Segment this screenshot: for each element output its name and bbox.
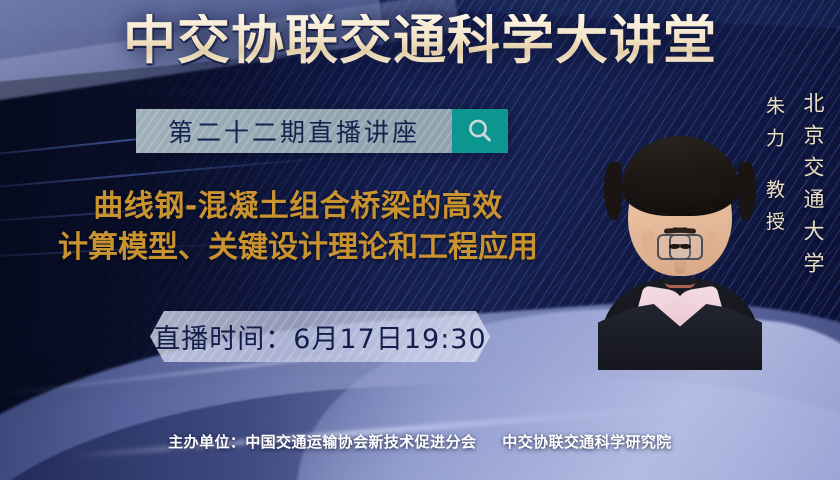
speaker-eye-left bbox=[669, 244, 680, 249]
lecture-poster: 中交协联交通科学大讲堂 第二十二期直播讲座 曲线钢-混凝土组合桥梁的高效 计算模… bbox=[0, 0, 840, 480]
speaker-hair bbox=[622, 136, 738, 216]
speaker-nose bbox=[674, 256, 686, 274]
speaker-hair-side-right bbox=[738, 162, 756, 220]
lecture-topic-line2: 计算模型、关键设计理论和工程应用 bbox=[0, 227, 596, 268]
search-icon bbox=[465, 116, 495, 146]
lecture-topic-line1: 曲线钢-混凝土组合桥梁的高效 bbox=[93, 189, 502, 224]
broadcast-time-panel: 直播时间：6月17日19:30 bbox=[150, 311, 490, 362]
speaker-ear-right bbox=[704, 230, 719, 256]
search-button[interactable] bbox=[452, 109, 508, 153]
organizer-secondary: 中交协联交通科学研究院 bbox=[502, 433, 671, 451]
speaker-eye-right bbox=[680, 244, 691, 249]
session-bar: 第二十二期直播讲座 bbox=[136, 109, 508, 153]
speaker-ear-left bbox=[641, 230, 656, 256]
session-label-text: 第二十二期直播讲座 bbox=[168, 113, 420, 149]
session-label-box: 第二十二期直播讲座 bbox=[136, 109, 452, 153]
lecture-topic: 曲线钢-混凝土组合桥梁的高效 计算模型、关键设计理论和工程应用 bbox=[0, 186, 596, 268]
speaker-mouth bbox=[665, 282, 695, 288]
broadcast-time-text: 直播时间：6月17日19:30 bbox=[153, 317, 486, 356]
speaker-affiliation: 北京交通大学 bbox=[798, 92, 828, 284]
speaker-hair-side-left bbox=[604, 162, 622, 220]
organizers-footer: 主办单位：中国交通运输协会新技术促进分会中交协联交通科学研究院 bbox=[0, 431, 840, 452]
speaker-name-title: 朱力 教授 bbox=[761, 96, 788, 243]
speaker-photo bbox=[600, 122, 760, 370]
page-title: 中交协联交通科学大讲堂 bbox=[0, 14, 840, 67]
organizer-primary: 主办单位：中国交通运输协会新技术促进分会 bbox=[168, 433, 476, 451]
